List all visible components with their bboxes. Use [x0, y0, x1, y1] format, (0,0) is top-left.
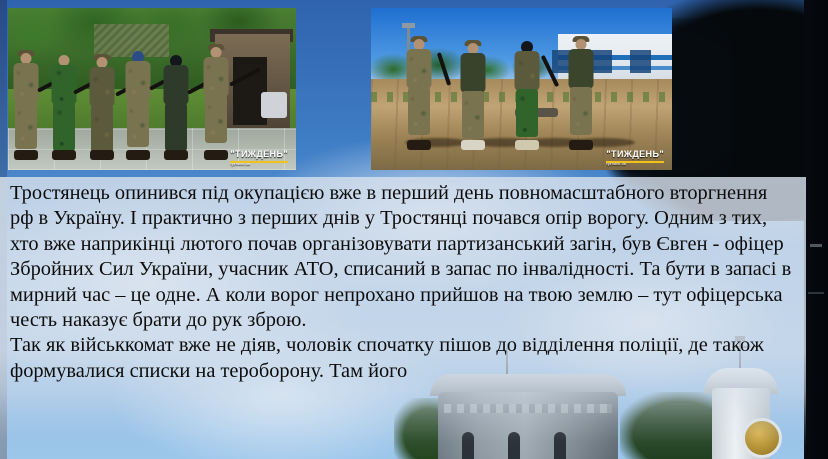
man-legs [408, 87, 430, 135]
soldier-boots [90, 150, 114, 160]
man-sneakers [515, 140, 539, 150]
soldier-torso [204, 57, 229, 97]
watermark-right: "ТИЖДЕНЬ" tyzhden.ua [602, 149, 668, 166]
soldier-boots [126, 150, 150, 160]
building-window [591, 50, 612, 73]
soldier-torso [164, 65, 189, 105]
article-paragraph-1: Тростянець опинився під окупацією вже в … [10, 181, 794, 333]
soldier-torso [126, 61, 151, 101]
soldier-legs [127, 99, 149, 147]
right-dark-band [804, 0, 828, 459]
building-window [630, 50, 651, 73]
watermark-subtext: tyzhden.ua [230, 163, 288, 166]
soldier-torso [90, 67, 115, 107]
man-sneakers [461, 140, 485, 150]
soldier-boots [204, 150, 228, 160]
article-paragraph-2: Так як військкомат вже не діяв, чоловік … [10, 333, 794, 384]
soldier-boots [52, 150, 76, 160]
screenshot-stage: "ТИЖДЕНЬ" tyzhden.ua [0, 0, 828, 459]
right-band-highlight [810, 244, 822, 247]
man-torso [515, 51, 540, 91]
article-text-overlay: Тростянець опинився під окупацією вже в … [0, 177, 806, 459]
man-boots [569, 140, 593, 150]
soldier-legs [91, 105, 113, 153]
man-torso [461, 53, 486, 93]
man-legs [516, 89, 538, 137]
soldier-boots [164, 150, 188, 160]
photo-left-fence [94, 24, 169, 56]
soldier-torso [52, 65, 77, 105]
watermark-text: "ТИЖДЕНЬ" [230, 149, 288, 159]
man-legs [462, 91, 484, 139]
man-legs [570, 87, 592, 135]
soldier-legs [15, 101, 37, 149]
man-torso [569, 49, 594, 89]
man-torso [407, 49, 432, 89]
photo-left[interactable]: "ТИЖДЕНЬ" tyzhden.ua [8, 8, 296, 170]
watermark-text: "ТИЖДЕНЬ" [606, 149, 664, 159]
watermark-subtext: tyzhden.ua [606, 163, 664, 166]
soldier-boots [14, 150, 38, 160]
soldier-legs [53, 103, 75, 151]
right-band-highlight-2 [808, 292, 824, 294]
watermark-left: "ТИЖДЕНЬ" tyzhden.ua [226, 149, 292, 166]
photo-right[interactable]: "ТИЖДЕНЬ" tyzhden.ua [371, 8, 672, 170]
soldier-torso [14, 63, 39, 103]
man-boots [407, 140, 431, 150]
soldier-legs [165, 103, 187, 151]
photo-left-bag [261, 92, 287, 118]
soldier-legs [205, 95, 227, 143]
